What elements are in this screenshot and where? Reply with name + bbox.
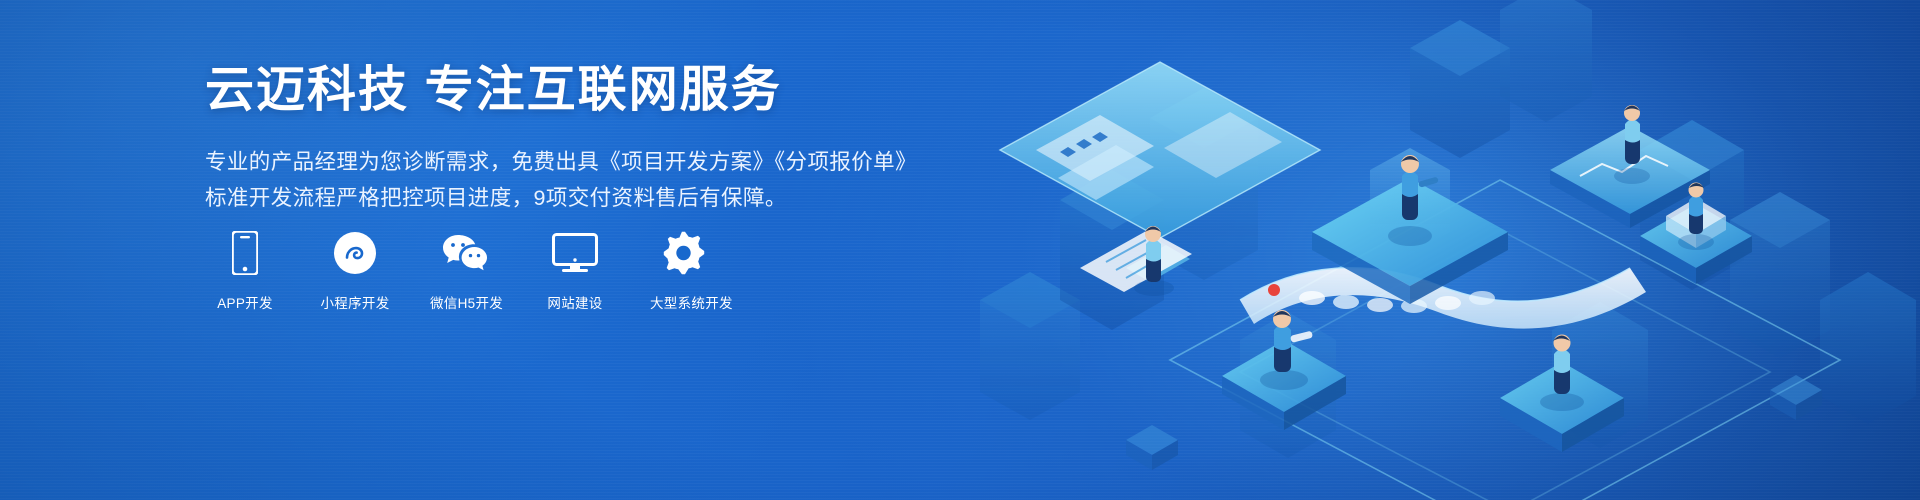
subtitle-line-1: 专业的产品经理为您诊断需求，免费出具《项目开发方案》《分项报价单》 <box>205 145 965 179</box>
service-label-website: 网站建设 <box>540 292 610 312</box>
service-item-miniprogram[interactable]: 小程序开发 <box>320 228 390 312</box>
service-label-wechat: 微信H5开发 <box>430 292 500 312</box>
service-label-system: 大型系统开发 <box>650 292 720 312</box>
hero-text-block: 云迈科技 专注互联网服务 专业的产品经理为您诊断需求，免费出具《项目开发方案》《… <box>205 60 965 217</box>
hero-banner: 云迈科技 专注互联网服务 专业的产品经理为您诊断需求，免费出具《项目开发方案》《… <box>0 0 1920 500</box>
mini-program-icon <box>320 228 390 278</box>
service-icon-row: APP开发 小程序开发 <box>210 228 720 312</box>
mobile-phone-icon <box>210 228 280 278</box>
monitor-icon <box>540 228 610 278</box>
service-item-website[interactable]: 网站建设 <box>540 228 610 312</box>
page-title: 云迈科技 专注互联网服务 <box>205 60 965 121</box>
hero-subtitle: 专业的产品经理为您诊断需求，免费出具《项目开发方案》《分项报价单》 标准开发流程… <box>205 145 965 215</box>
subtitle-line-2: 标准开发流程严格把控项目进度，9项交付资料售后有保障。 <box>205 181 965 215</box>
service-item-app[interactable]: APP开发 <box>210 228 280 312</box>
gear-icon <box>650 228 720 278</box>
service-label-app: APP开发 <box>210 292 280 312</box>
service-item-wechat[interactable]: 微信H5开发 <box>430 228 500 312</box>
service-item-system[interactable]: 大型系统开发 <box>650 228 720 312</box>
wechat-icon <box>430 228 500 278</box>
isometric-illustration <box>940 0 1920 500</box>
service-label-miniprogram: 小程序开发 <box>320 292 390 312</box>
